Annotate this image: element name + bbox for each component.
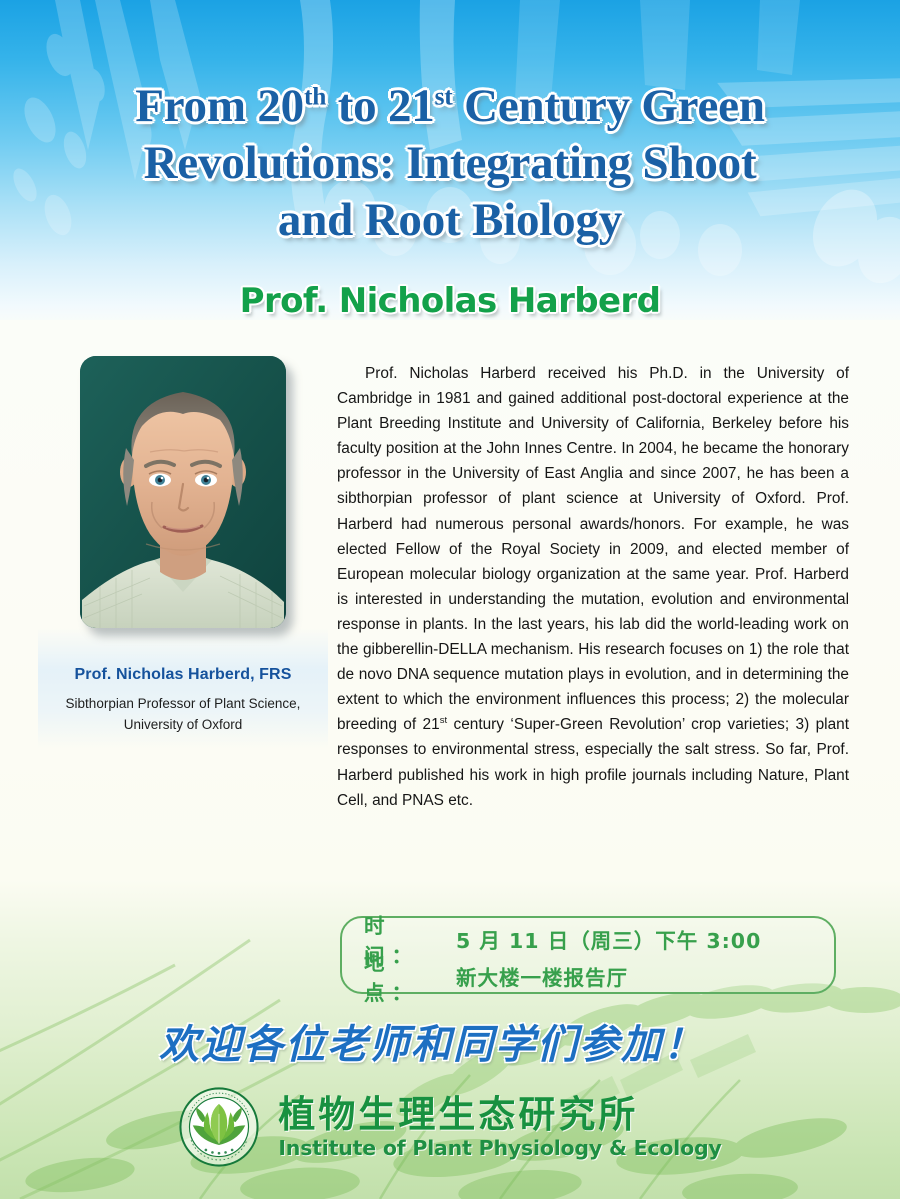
event-place-value: 新大楼一楼报告厅 <box>456 961 628 991</box>
bio-superscript-st: st <box>440 715 447 726</box>
event-place-row: 地 点： 新大楼一楼报告厅 <box>342 957 834 994</box>
poster-title: From 20th to 21st Century Green Revoluti… <box>0 78 900 249</box>
title-superscript-th: th <box>304 82 326 110</box>
title-line-2: Revolutions: Integrating Shoot <box>0 135 900 192</box>
photo-caption-affiliation: Sibthorpian Professor of Plant Science, … <box>38 693 328 735</box>
bio-paragraph: Prof. Nicholas Harberd received his Ph.D… <box>337 361 849 813</box>
caption-title-line: Sibthorpian Professor of Plant Science, <box>38 693 328 714</box>
title-line-3: and Root Biology <box>0 192 900 249</box>
institute-name-en: Institute of Plant Physiology & Ecology <box>278 1138 721 1159</box>
institute-seal-logo <box>178 1086 260 1168</box>
event-details-box: 时 间： 5 月 11 日（周三）下午 3:00 地 点： 新大楼一楼报告厅 <box>340 916 836 994</box>
title-superscript-st: st <box>435 82 453 110</box>
photo-caption-name: Prof. Nicholas Harberd, FRS <box>38 666 328 684</box>
portrait-illustration <box>80 356 286 628</box>
title-line-1: From 20th to 21st Century Green <box>0 78 900 135</box>
speaker-biography: Prof. Nicholas Harberd received his Ph.D… <box>337 361 849 813</box>
institute-name-cn: 植物生理生态研究所 <box>278 1096 721 1133</box>
welcome-message: 欢迎各位老师和同学们参加！ <box>0 1012 900 1070</box>
event-place-label: 地 点： <box>364 946 456 1006</box>
seminar-poster: From 20th to 21st Century Green Revoluti… <box>0 0 900 1199</box>
bio-part-1: Prof. Nicholas Harberd received his Ph.D… <box>337 365 849 733</box>
speaker-name: Prof. Nicholas Harberd <box>0 281 900 321</box>
institute-name-block: 植物生理生态研究所 Institute of Plant Physiology … <box>278 1096 721 1159</box>
institute-footer: 植物生理生态研究所 Institute of Plant Physiology … <box>0 1086 900 1168</box>
speaker-photo-column <box>38 356 328 628</box>
speaker-photo <box>80 356 286 628</box>
caption-university-line: University of Oxford <box>38 714 328 735</box>
event-time-value: 5 月 11 日（周三）下午 3:00 <box>456 924 761 954</box>
